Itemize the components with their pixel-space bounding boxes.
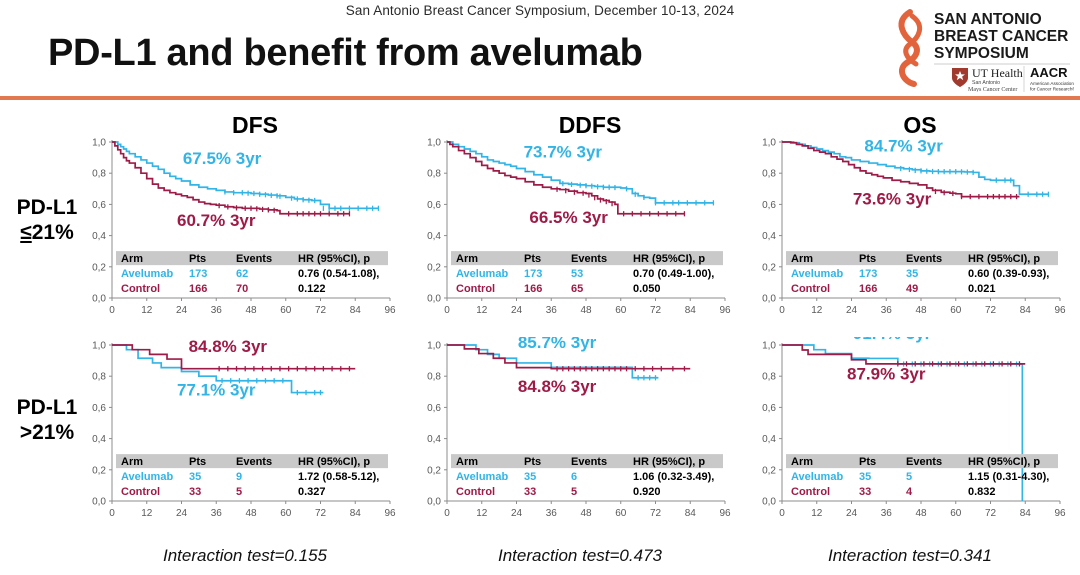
x-tick-label: 48 xyxy=(245,508,257,519)
stats-row-pts: 173 xyxy=(524,268,542,280)
stats-row-arm: Control xyxy=(791,486,830,498)
y-tick-label: 1,0 xyxy=(762,138,776,149)
y-tick-label: 1,0 xyxy=(427,341,441,352)
x-tick-label: 0 xyxy=(109,508,115,519)
stats-row-pts: 173 xyxy=(189,268,207,280)
x-tick-label: 12 xyxy=(811,508,823,519)
stats-row-events: 6 xyxy=(571,471,577,483)
km-panel-ddfs-low: 0,00,20,40,60,81,00122436486072849673.7%… xyxy=(413,134,731,324)
row-label-line1: PD-L1 xyxy=(17,196,78,219)
km-annotation: 67.5% 3yr xyxy=(183,149,262,168)
stats-row-arm: Avelumab xyxy=(456,471,508,483)
stats-row-arm: Control xyxy=(121,283,160,295)
km-panel-ddfs-high: 0,00,20,40,60,81,00122436486072849685.7%… xyxy=(413,337,731,527)
km-annotation: 91.4% 3yr xyxy=(853,337,932,343)
title-divider xyxy=(0,96,1080,100)
y-tick-label: 0,6 xyxy=(427,403,441,414)
stats-row-arm: Avelumab xyxy=(121,268,173,280)
sabcs-logo-svg: SAN ANTONIO BREAST CANCER SYMPOSIUM UT H… xyxy=(888,6,1074,92)
stats-col-header: HR (95%CI), p xyxy=(298,253,370,265)
stats-col-header: Events xyxy=(571,253,607,265)
y-tick-label: 0,2 xyxy=(762,262,776,273)
row-label-line1: PD-L1 xyxy=(17,396,78,419)
y-tick-label: 0,0 xyxy=(762,294,776,305)
x-tick-label: 36 xyxy=(881,508,893,519)
y-tick-label: 0,6 xyxy=(427,200,441,211)
y-tick-label: 0,2 xyxy=(762,465,776,476)
y-tick-label: 0,8 xyxy=(762,372,776,383)
stats-col-header: Arm xyxy=(121,253,143,265)
stats-row-hr: 0.021 xyxy=(968,283,996,295)
stats-row-events: 4 xyxy=(906,486,913,498)
aacr-sub1: American Association xyxy=(1030,81,1074,86)
stats-row-pts: 166 xyxy=(189,283,207,295)
stats-row-events: 5 xyxy=(906,471,912,483)
x-tick-label: 36 xyxy=(546,508,558,519)
y-tick-label: 0,4 xyxy=(92,434,106,445)
y-tick-label: 0,4 xyxy=(762,231,776,242)
logo-ribbon-icon xyxy=(901,12,919,84)
y-tick-label: 0,8 xyxy=(427,169,441,180)
x-tick-label: 72 xyxy=(985,508,997,519)
x-tick-label: 36 xyxy=(211,508,223,519)
x-tick-label: 60 xyxy=(615,305,627,316)
x-tick-label: 12 xyxy=(476,508,488,519)
stats-row-pts: 173 xyxy=(859,268,877,280)
y-tick-label: 0,8 xyxy=(92,169,106,180)
x-tick-label: 84 xyxy=(350,305,362,316)
stats-col-header: Pts xyxy=(859,456,876,468)
x-tick-label: 0 xyxy=(779,508,785,519)
y-tick-label: 0,6 xyxy=(92,403,106,414)
stats-col-header: HR (95%CI), p xyxy=(633,253,705,265)
y-tick-label: 0,6 xyxy=(92,200,106,211)
x-tick-label: 96 xyxy=(384,305,396,316)
x-tick-label: 12 xyxy=(141,305,153,316)
ut-health-sub: San Antonio xyxy=(972,80,1000,86)
km-panel-dfs-high: 0,00,20,40,60,81,00122436486072849684.8%… xyxy=(78,337,396,527)
y-tick-label: 0,4 xyxy=(427,231,441,242)
stats-col-header: Arm xyxy=(791,253,813,265)
x-tick-label: 24 xyxy=(176,305,188,316)
x-tick-label: 0 xyxy=(109,305,115,316)
stats-row-events: 9 xyxy=(236,471,242,483)
km-annotation: 73.6% 3yr xyxy=(853,189,932,208)
stats-row-arm: Avelumab xyxy=(121,471,173,483)
stats-row-hr: 0.122 xyxy=(298,283,326,295)
km-annotation: 77.1% 3yr xyxy=(177,381,256,400)
km-annotation: 60.7% 3yr xyxy=(177,211,256,230)
y-tick-label: 1,0 xyxy=(762,341,776,352)
stats-col-header: HR (95%CI), p xyxy=(968,253,1040,265)
x-tick-label: 72 xyxy=(650,508,662,519)
y-tick-label: 1,0 xyxy=(427,138,441,149)
stats-col-header: Arm xyxy=(121,456,143,468)
km-annotation: 66.5% 3yr xyxy=(529,208,608,227)
y-tick-label: 0,8 xyxy=(92,372,106,383)
stats-row-events: 49 xyxy=(906,283,918,295)
ut-health-shield-icon xyxy=(952,68,968,87)
logo-line3: SYMPOSIUM xyxy=(934,45,1029,62)
stats-row-hr: 0.70 (0.49-1.00), xyxy=(633,268,714,280)
sabcs-logo: SAN ANTONIO BREAST CANCER SYMPOSIUM UT H… xyxy=(888,6,1074,92)
logo-line2: BREAST CANCER xyxy=(934,28,1068,45)
stats-row-pts: 35 xyxy=(859,471,871,483)
stats-row-events: 53 xyxy=(571,268,583,280)
stats-row-hr: 0.920 xyxy=(633,486,661,498)
stats-col-header: Events xyxy=(906,456,942,468)
stats-col-header: Arm xyxy=(456,253,478,265)
stats-col-header: Pts xyxy=(524,253,541,265)
x-tick-label: 24 xyxy=(511,508,523,519)
x-tick-label: 84 xyxy=(1020,305,1032,316)
km-chart-os-low: 0,00,20,40,60,81,00122436486072849684.7%… xyxy=(748,134,1066,324)
x-tick-label: 84 xyxy=(685,305,697,316)
x-tick-label: 48 xyxy=(580,508,592,519)
stats-row-arm: Control xyxy=(791,283,830,295)
y-tick-label: 0,2 xyxy=(92,262,106,273)
x-tick-label: 24 xyxy=(176,508,188,519)
stats-row-arm: Control xyxy=(456,283,495,295)
km-chart-ddfs-high: 0,00,20,40,60,81,00122436486072849685.7%… xyxy=(413,337,731,527)
y-tick-label: 0,0 xyxy=(762,497,776,508)
x-tick-label: 96 xyxy=(719,508,731,519)
x-tick-label: 36 xyxy=(881,305,893,316)
stats-row-arm: Avelumab xyxy=(791,471,843,483)
km-annotation: 87.9% 3yr xyxy=(847,364,926,383)
ut-health-label: UT Health xyxy=(972,66,1023,80)
x-tick-label: 48 xyxy=(915,508,927,519)
stats-col-header: HR (95%CI), p xyxy=(968,456,1040,468)
stats-row-events: 70 xyxy=(236,283,248,295)
stats-row-events: 65 xyxy=(571,283,583,295)
stats-col-header: Events xyxy=(236,253,272,265)
stats-col-header: Pts xyxy=(859,253,876,265)
y-tick-label: 0,4 xyxy=(762,434,776,445)
y-tick-label: 1,0 xyxy=(92,341,106,352)
km-annotation: 84.8% 3yr xyxy=(189,337,268,356)
km-chart-dfs-low: 0,00,20,40,60,81,00122436486072849667.5%… xyxy=(78,134,396,324)
page-title: PD-L1 and benefit from avelumab xyxy=(48,32,643,75)
stats-col-header: Arm xyxy=(456,456,478,468)
x-tick-label: 96 xyxy=(1054,305,1066,316)
x-tick-label: 72 xyxy=(650,305,662,316)
x-tick-label: 12 xyxy=(476,305,488,316)
stats-row-events: 35 xyxy=(906,268,918,280)
stats-row-hr: 0.050 xyxy=(633,283,661,295)
km-annotation: 84.8% 3yr xyxy=(518,377,597,396)
x-tick-label: 60 xyxy=(615,508,627,519)
km-curve-control xyxy=(782,345,1025,364)
stats-row-hr: 1.72 (0.58-5.12), xyxy=(298,471,379,483)
stats-row-events: 5 xyxy=(236,486,242,498)
y-tick-label: 0,8 xyxy=(427,372,441,383)
km-annotation: 84.7% 3yr xyxy=(864,136,943,155)
y-tick-label: 0,4 xyxy=(427,434,441,445)
y-tick-label: 0,0 xyxy=(92,497,106,508)
km-panel-os-high: 0,00,20,40,60,81,00122436486072849691.4%… xyxy=(748,337,1066,527)
stats-row-arm: Control xyxy=(456,486,495,498)
stats-row-pts: 166 xyxy=(859,283,877,295)
y-tick-label: 0,2 xyxy=(427,465,441,476)
y-tick-label: 0,0 xyxy=(427,497,441,508)
x-tick-label: 48 xyxy=(580,305,592,316)
stats-row-hr: 0.832 xyxy=(968,486,996,498)
stats-row-arm: Avelumab xyxy=(791,268,843,280)
stats-row-pts: 33 xyxy=(859,486,871,498)
ut-health-sub2: Mays Cancer Center xyxy=(968,87,1017,92)
km-panel-dfs-low: 0,00,20,40,60,81,00122436486072849667.5%… xyxy=(78,134,396,324)
aacr-sub2: for Cancer Research® xyxy=(1030,86,1074,92)
x-tick-label: 0 xyxy=(779,305,785,316)
y-tick-label: 1,0 xyxy=(92,138,106,149)
stats-col-header: HR (95%CI), p xyxy=(633,456,705,468)
stats-row-pts: 166 xyxy=(524,283,542,295)
km-annotation: 85.7% 3yr xyxy=(518,337,597,352)
stats-row-pts: 35 xyxy=(524,471,536,483)
interaction-test-ddfs: Interaction test=0.473 xyxy=(415,546,745,566)
x-tick-label: 0 xyxy=(444,508,450,519)
y-tick-label: 0,0 xyxy=(427,294,441,305)
stats-row-hr: 0.327 xyxy=(298,486,326,498)
x-tick-label: 96 xyxy=(719,305,731,316)
stats-row-pts: 33 xyxy=(189,486,201,498)
y-tick-label: 0,0 xyxy=(92,294,106,305)
stats-row-hr: 0.76 (0.54-1.08), xyxy=(298,268,379,280)
x-tick-label: 60 xyxy=(280,508,292,519)
stats-col-header: Arm xyxy=(791,456,813,468)
y-tick-label: 0,4 xyxy=(92,231,106,242)
stats-col-header: Events xyxy=(236,456,272,468)
km-chart-ddfs-low: 0,00,20,40,60,81,00122436486072849673.7%… xyxy=(413,134,731,324)
x-tick-label: 12 xyxy=(811,305,823,316)
x-tick-label: 60 xyxy=(950,305,962,316)
stats-row-arm: Avelumab xyxy=(456,268,508,280)
stats-row-hr: 1.15 (0.31-4.30), xyxy=(968,471,1049,483)
stats-row-hr: 1.06 (0.32-3.49), xyxy=(633,471,714,483)
stats-col-header: Events xyxy=(571,456,607,468)
x-tick-label: 84 xyxy=(685,508,697,519)
x-tick-label: 24 xyxy=(511,305,523,316)
y-tick-label: 0,2 xyxy=(92,465,106,476)
interaction-test-dfs: Interaction test=0.155 xyxy=(80,546,410,566)
km-annotation: 73.7% 3yr xyxy=(524,143,603,162)
stats-row-events: 5 xyxy=(571,486,577,498)
km-chart-os-high: 0,00,20,40,60,81,00122436486072849691.4%… xyxy=(748,337,1066,527)
x-tick-label: 72 xyxy=(315,508,327,519)
x-tick-label: 96 xyxy=(1054,508,1066,519)
stats-row-pts: 33 xyxy=(524,486,536,498)
x-tick-label: 36 xyxy=(211,305,223,316)
km-chart-dfs-high: 0,00,20,40,60,81,00122436486072849684.8%… xyxy=(78,337,396,527)
stats-col-header: HR (95%CI), p xyxy=(298,456,370,468)
stats-col-header: Pts xyxy=(189,253,206,265)
stats-row-arm: Control xyxy=(121,486,160,498)
x-tick-label: 24 xyxy=(846,508,858,519)
x-tick-label: 60 xyxy=(280,305,292,316)
logo-line1: SAN ANTONIO xyxy=(934,11,1042,28)
x-tick-label: 48 xyxy=(915,305,927,316)
x-tick-label: 0 xyxy=(444,305,450,316)
x-tick-label: 60 xyxy=(950,508,962,519)
x-tick-label: 84 xyxy=(350,508,362,519)
km-panel-os-low: 0,00,20,40,60,81,00122436486072849684.7%… xyxy=(748,134,1066,324)
stats-row-pts: 35 xyxy=(189,471,201,483)
y-tick-label: 0,2 xyxy=(427,262,441,273)
y-tick-label: 0,6 xyxy=(762,403,776,414)
stats-col-header: Pts xyxy=(189,456,206,468)
stats-row-hr: 0.60 (0.39-0.93), xyxy=(968,268,1049,280)
y-tick-label: 0,8 xyxy=(762,169,776,180)
stats-row-events: 62 xyxy=(236,268,248,280)
x-tick-label: 12 xyxy=(141,508,153,519)
x-tick-label: 48 xyxy=(245,305,257,316)
x-tick-label: 72 xyxy=(985,305,997,316)
x-tick-label: 84 xyxy=(1020,508,1032,519)
x-tick-label: 96 xyxy=(384,508,396,519)
aacr-label: AACR xyxy=(1030,65,1068,80)
x-tick-label: 72 xyxy=(315,305,327,316)
stats-col-header: Events xyxy=(906,253,942,265)
x-tick-label: 24 xyxy=(846,305,858,316)
interaction-test-os: Interaction test=0.341 xyxy=(745,546,1075,566)
y-tick-label: 0,6 xyxy=(762,200,776,211)
x-tick-label: 36 xyxy=(546,305,558,316)
stats-col-header: Pts xyxy=(524,456,541,468)
